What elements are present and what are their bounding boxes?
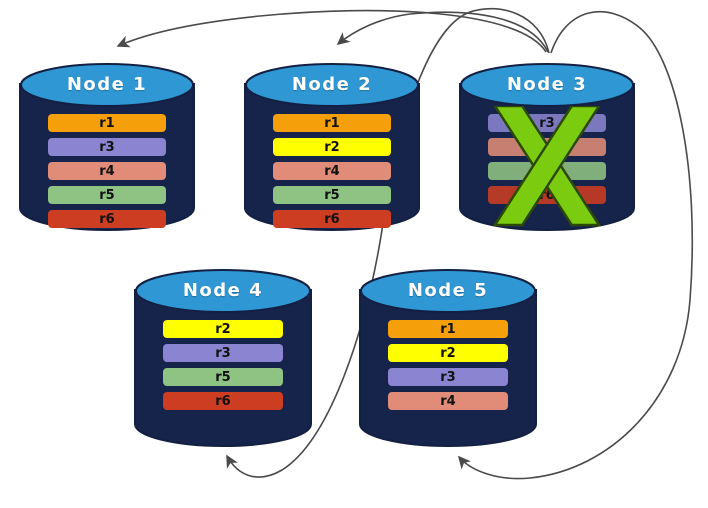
- replica-bar[interactable]: r6: [273, 210, 391, 228]
- replica-bar[interactable]: r4: [273, 162, 391, 180]
- replica-bar[interactable]: r2: [273, 138, 391, 156]
- replica-bar[interactable]: r5: [273, 186, 391, 204]
- replica-bar[interactable]: r5: [163, 368, 283, 386]
- replica-label: r5: [539, 164, 554, 179]
- replica-bar[interactable]: r6: [488, 186, 606, 204]
- arrow-node3-to-node2: [338, 12, 548, 52]
- replica-label: r6: [324, 212, 339, 227]
- node-cylinder[interactable]: Node 1r1r3r4r5r6: [18, 62, 196, 232]
- replica-label: r6: [99, 212, 114, 227]
- node-cylinder[interactable]: Node 2r1r2r4r5r6: [243, 62, 421, 232]
- replica-label: r1: [99, 116, 114, 131]
- replica-bar[interactable]: r1: [48, 114, 166, 132]
- replica-bar[interactable]: r4: [488, 138, 606, 156]
- cylinder-top-ellipse: [461, 64, 633, 106]
- replica-label: r3: [215, 346, 230, 361]
- replica-bar[interactable]: r3: [48, 138, 166, 156]
- replica-label: r6: [215, 394, 230, 409]
- replica-label: r3: [99, 140, 114, 155]
- cylinder-top-ellipse: [361, 270, 535, 312]
- replica-bar[interactable]: r3: [163, 344, 283, 362]
- replica-list: r1r2r3r4: [358, 320, 538, 410]
- replica-bar[interactable]: r1: [388, 320, 508, 338]
- replica-label: r6: [539, 188, 554, 203]
- node-cylinder[interactable]: Node 5r1r2r3r4: [358, 268, 538, 448]
- replica-bar[interactable]: r6: [163, 392, 283, 410]
- cylinder-top-ellipse: [136, 270, 310, 312]
- replica-label: r2: [324, 140, 339, 155]
- node-cylinder[interactable]: Node 4r2r3r5r6: [133, 268, 313, 448]
- replica-bar[interactable]: r4: [388, 392, 508, 410]
- replica-bar[interactable]: r5: [48, 186, 166, 204]
- replica-label: r4: [324, 164, 339, 179]
- arrow-node3-to-node1: [118, 11, 546, 52]
- replica-list: r3r4r5r6: [458, 114, 636, 204]
- replica-label: r4: [440, 394, 455, 409]
- replica-label: r5: [215, 370, 230, 385]
- replica-bar[interactable]: r6: [48, 210, 166, 228]
- replica-label: r1: [324, 116, 339, 131]
- replica-list: r1r3r4r5r6: [18, 114, 196, 228]
- replica-label: r2: [215, 322, 230, 337]
- replica-bar[interactable]: r4: [48, 162, 166, 180]
- replica-bar[interactable]: r3: [388, 368, 508, 386]
- replica-bar[interactable]: r3: [488, 114, 606, 132]
- replica-list: r2r3r5r6: [133, 320, 313, 410]
- replica-label: r3: [440, 370, 455, 385]
- replica-label: r2: [440, 346, 455, 361]
- replica-label: r5: [324, 188, 339, 203]
- cylinder-top-ellipse: [21, 64, 193, 106]
- replica-list: r1r2r4r5r6: [243, 114, 421, 228]
- replica-label: r1: [440, 322, 455, 337]
- replica-label: r4: [539, 140, 554, 155]
- replica-label: r3: [539, 116, 554, 131]
- diagram-canvas: Node 1r1r3r4r5r6Node 2r1r2r4r5r6Node 3r3…: [0, 0, 708, 508]
- replica-bar[interactable]: r2: [388, 344, 508, 362]
- cylinder-top-ellipse: [246, 64, 418, 106]
- replica-bar[interactable]: r2: [163, 320, 283, 338]
- replica-bar[interactable]: r1: [273, 114, 391, 132]
- replica-label: r5: [99, 188, 114, 203]
- replica-bar[interactable]: r5: [488, 162, 606, 180]
- node-cylinder[interactable]: Node 3r3r4r5r6: [458, 62, 636, 232]
- replica-label: r4: [99, 164, 114, 179]
